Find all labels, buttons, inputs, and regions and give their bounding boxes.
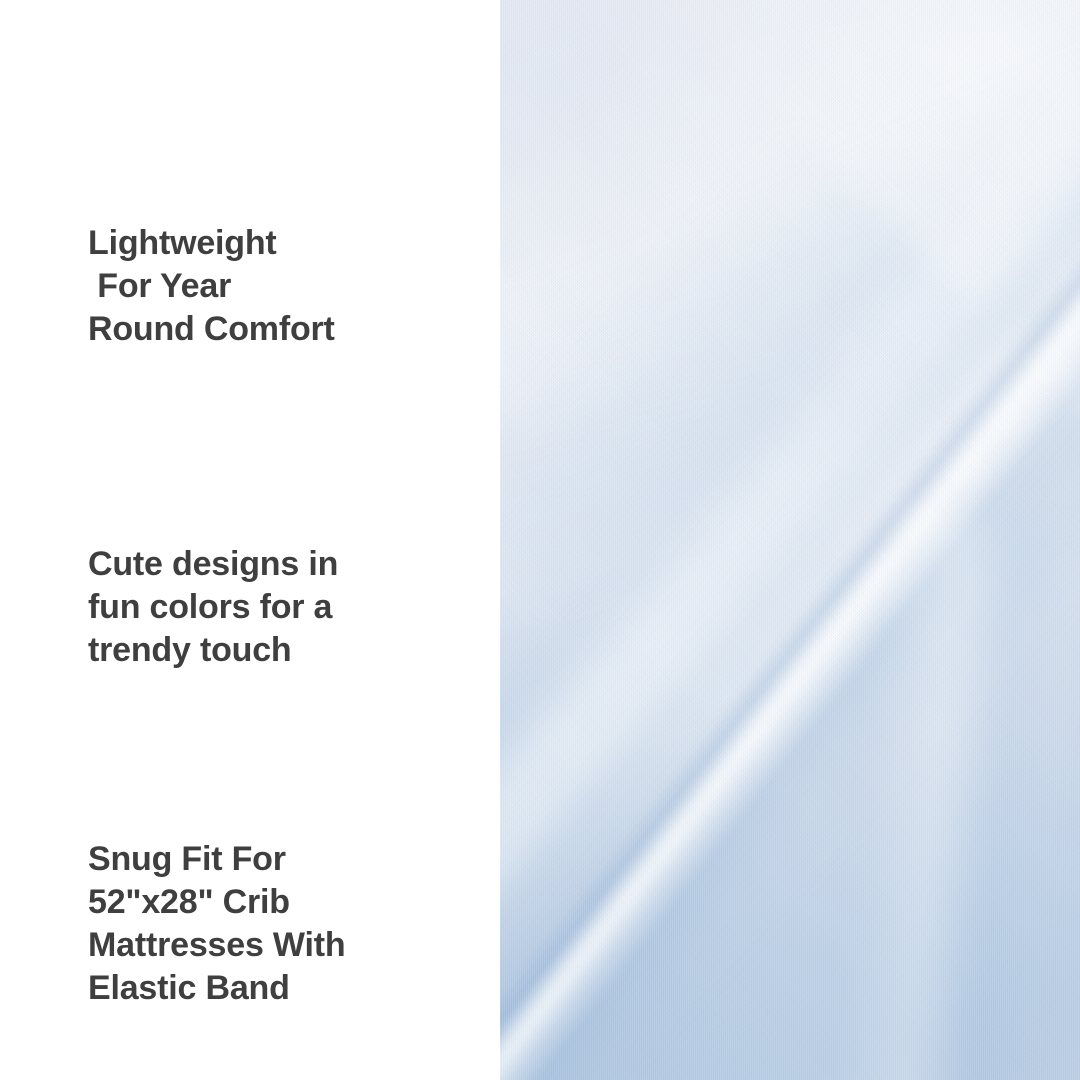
- product-feature-image: Lightweight For Year Round Comfort Cute …: [0, 0, 1080, 1080]
- feature-text-panel: Lightweight For Year Round Comfort Cute …: [0, 0, 500, 1080]
- feature-line: trendy touch: [88, 629, 488, 672]
- feature-line: For Year: [88, 265, 488, 308]
- feature-line: Elastic Band: [88, 967, 488, 1010]
- feature-line: Round Comfort: [88, 308, 488, 351]
- feature-line: Lightweight: [88, 222, 488, 265]
- feature-block-lightweight: Lightweight For Year Round Comfort: [88, 222, 488, 351]
- feature-line: Cute designs in: [88, 543, 488, 586]
- feature-block-cute-designs: Cute designs in fun colors for a trendy …: [88, 543, 488, 672]
- fabric-photo: [500, 0, 1080, 1080]
- fabric-tonal-finish: [500, 0, 1080, 1080]
- feature-block-snug-fit: Snug Fit For 52"x28" Crib Mattresses Wit…: [88, 838, 488, 1010]
- feature-line: 52"x28" Crib: [88, 881, 488, 924]
- feature-line: Mattresses With: [88, 924, 488, 967]
- feature-line: fun colors for a: [88, 586, 488, 629]
- feature-line: Snug Fit For: [88, 838, 488, 881]
